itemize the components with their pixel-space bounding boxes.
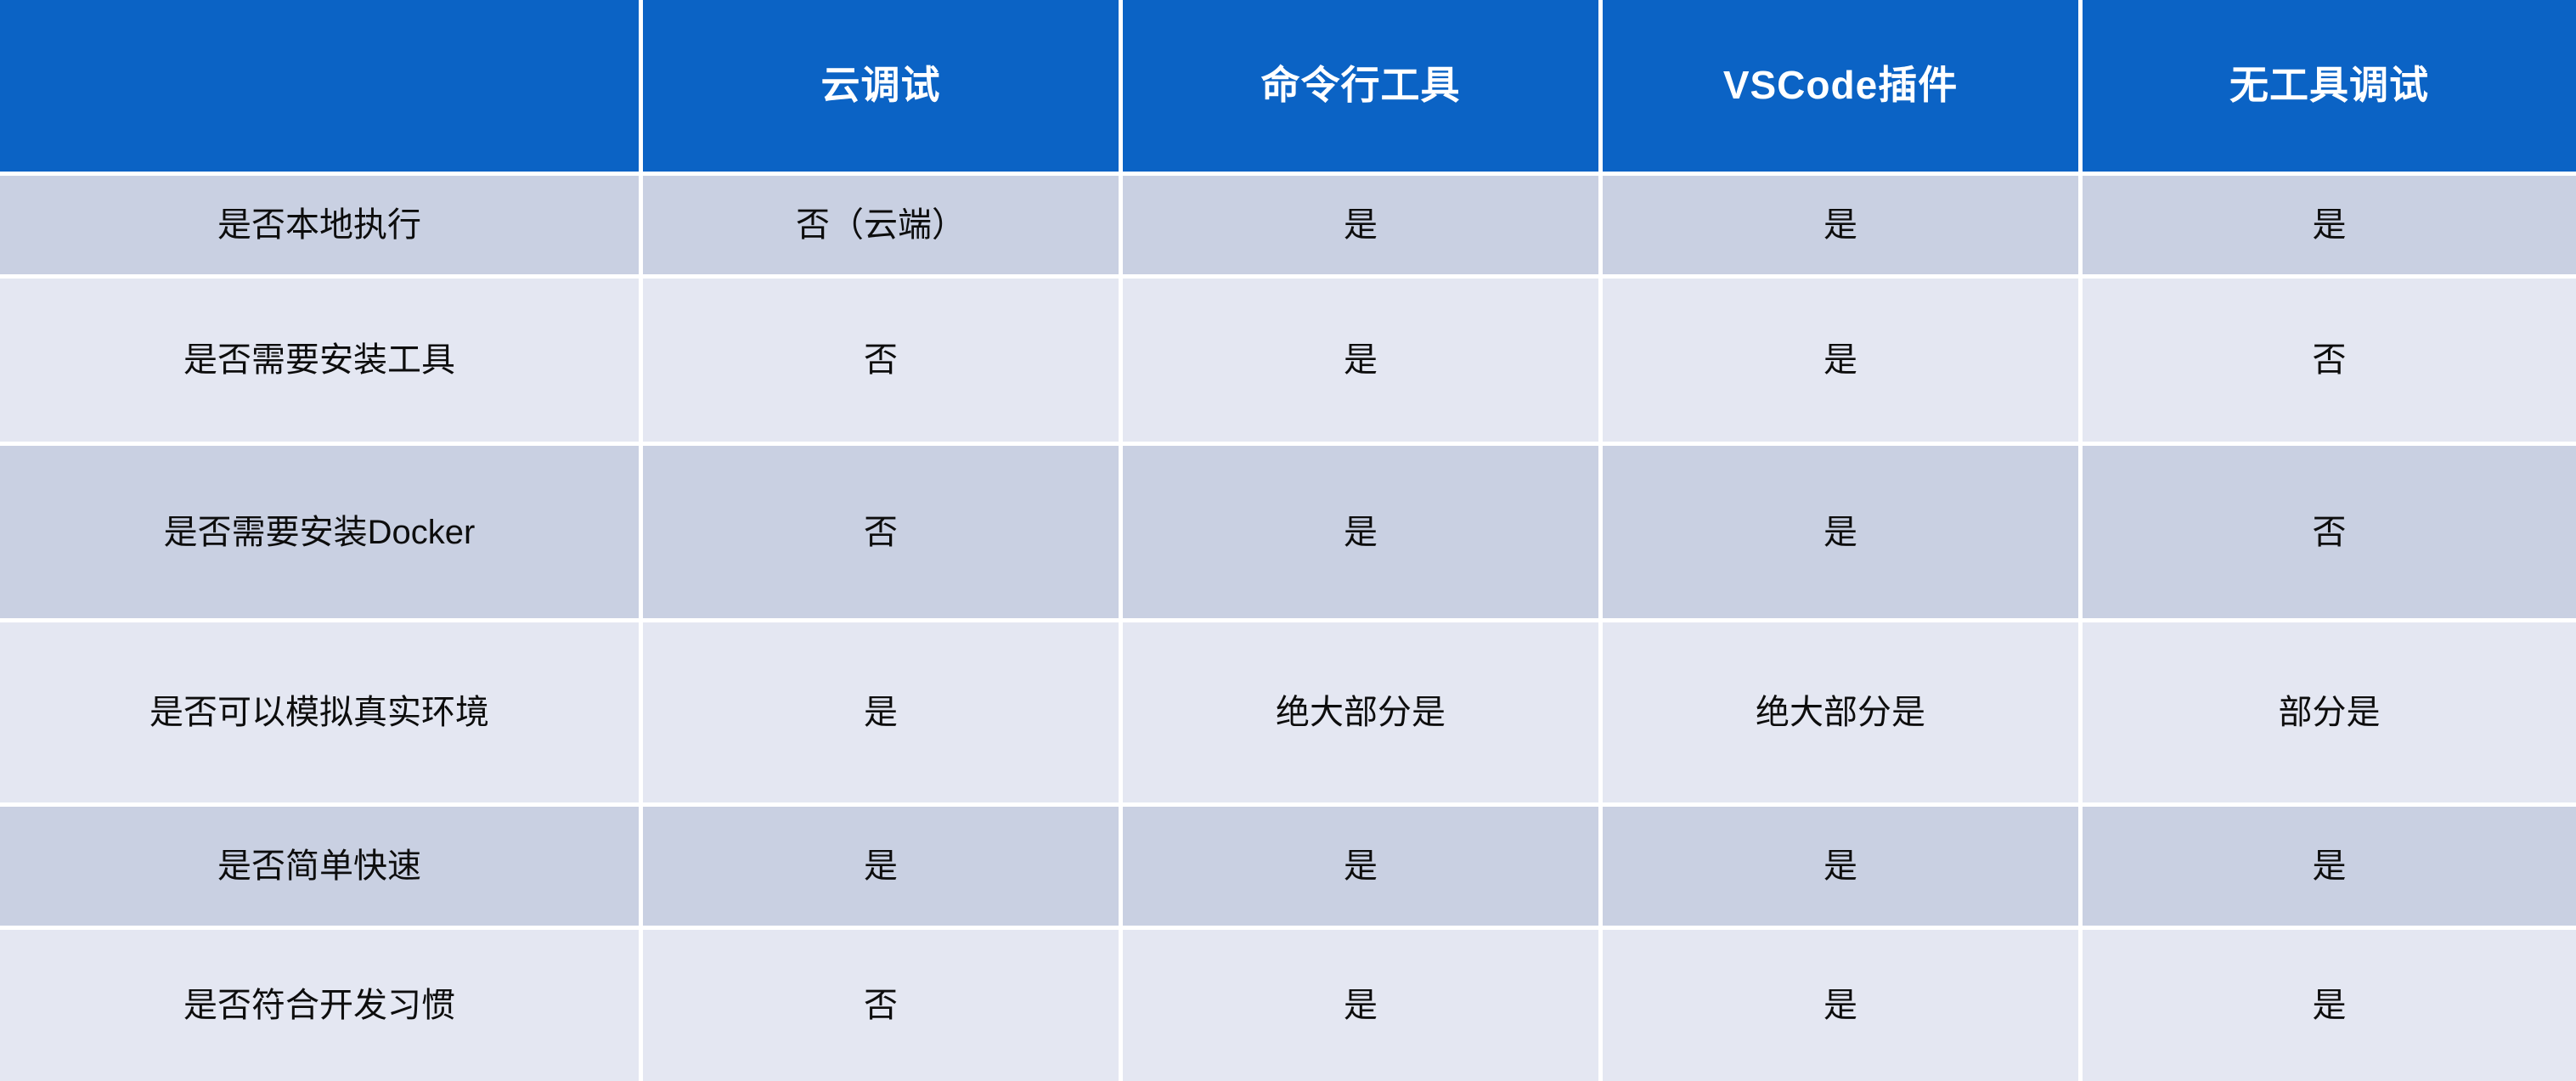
cell-vscode-plugin: 绝大部分是	[1603, 622, 2083, 807]
table-row: 是否需要安装Docker 否 是 是 否	[0, 446, 2576, 622]
cell-vscode-plugin: 是	[1603, 279, 2083, 446]
header-vscode-latin: VSCode	[1723, 61, 1878, 110]
cell-cloud-debug: 否（云端）	[643, 176, 1123, 279]
comparison-table: 云调试 命令行工具 VSCode插件 无工具调试 是否本地执行 否（云端） 是 …	[0, 0, 2576, 1081]
cell-cli-tool: 绝大部分是	[1123, 622, 1603, 807]
table-row: 是否简单快速 是 是 是 是	[0, 807, 2576, 930]
header-vscode-cjk: 插件	[1878, 61, 1958, 110]
header-cell-cli-tool: 命令行工具	[1123, 0, 1603, 172]
row-label-cell: 是否可以模拟真实环境	[0, 622, 643, 807]
cell-no-tool-debug: 是	[2083, 807, 2576, 930]
row-label-cell: 是否需要安装工具	[0, 279, 643, 446]
cell-no-tool-debug: 是	[2083, 176, 2576, 279]
cell-cloud-debug: 否	[643, 279, 1123, 446]
cell-no-tool-debug: 否	[2083, 279, 2576, 446]
cell-no-tool-debug: 否	[2083, 446, 2576, 622]
row-label-cell: 是否需要安装Docker	[0, 446, 643, 622]
header-cell-no-tool-debug: 无工具调试	[2083, 0, 2576, 172]
row-label-cell: 是否本地执行	[0, 176, 643, 279]
cell-vscode-plugin: 是	[1603, 930, 2083, 1081]
cell-cloud-debug: 否	[643, 930, 1123, 1081]
table-header-row: 云调试 命令行工具 VSCode插件 无工具调试	[0, 0, 2576, 176]
cell-vscode-plugin: 是	[1603, 807, 2083, 930]
header-cell-cloud-debug: 云调试	[643, 0, 1123, 172]
cell-no-tool-debug: 是	[2083, 930, 2576, 1081]
table-row: 是否符合开发习惯 否 是 是 是	[0, 930, 2576, 1081]
row-label-cell: 是否简单快速	[0, 807, 643, 930]
header-cell-vscode-plugin: VSCode插件	[1603, 0, 2083, 172]
cell-no-tool-debug: 部分是	[2083, 622, 2576, 807]
table-row: 是否可以模拟真实环境 是 绝大部分是 绝大部分是 部分是	[0, 622, 2576, 807]
cell-cli-tool: 是	[1123, 807, 1603, 930]
cell-cli-tool: 是	[1123, 279, 1603, 446]
cell-cloud-debug: 是	[643, 807, 1123, 930]
header-cell-criterion	[0, 0, 643, 172]
cell-vscode-plugin: 是	[1603, 176, 2083, 279]
cell-cli-tool: 是	[1123, 446, 1603, 622]
cell-vscode-plugin: 是	[1603, 446, 2083, 622]
table-row: 是否需要安装工具 否 是 是 否	[0, 279, 2576, 446]
cell-cli-tool: 是	[1123, 176, 1603, 279]
cell-cloud-debug: 否	[643, 446, 1123, 622]
row-label-cell: 是否符合开发习惯	[0, 930, 643, 1081]
cell-cli-tool: 是	[1123, 930, 1603, 1081]
cell-cloud-debug: 是	[643, 622, 1123, 807]
table-row: 是否本地执行 否（云端） 是 是 是	[0, 176, 2576, 279]
